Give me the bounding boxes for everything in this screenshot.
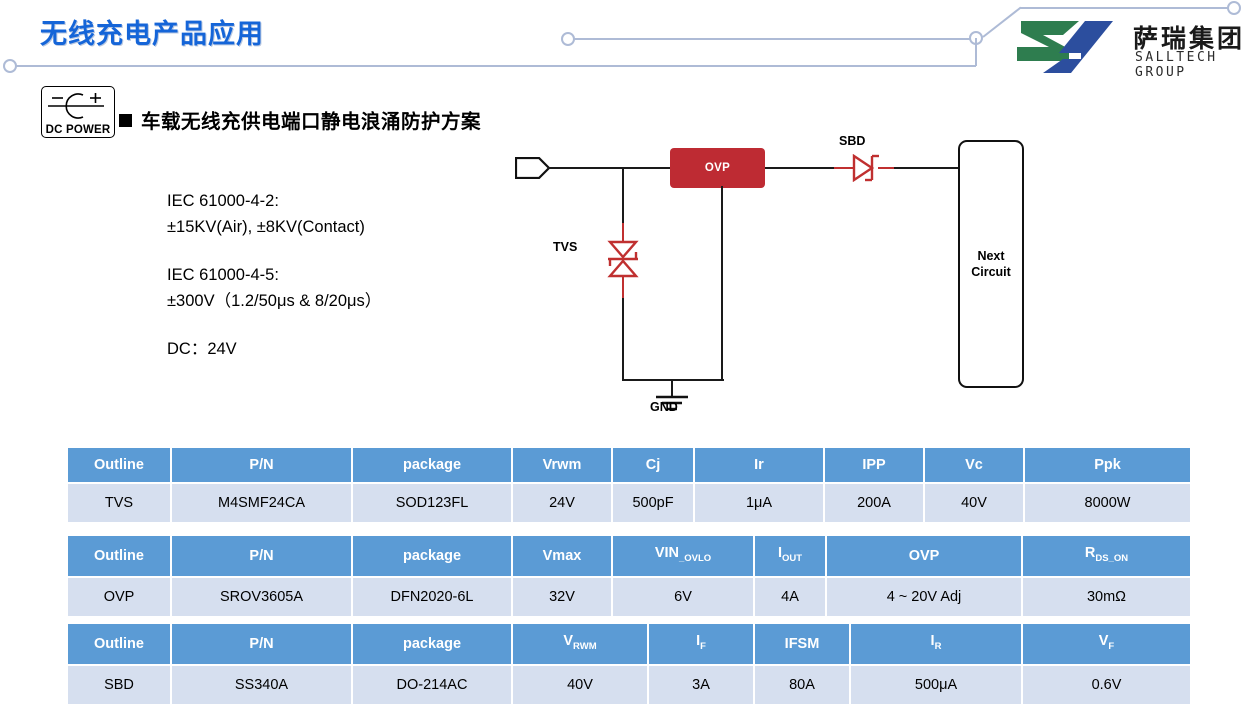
wire-node-to-tvs	[622, 167, 624, 224]
deco-circle-right	[1227, 1, 1241, 15]
deco-circle-left	[3, 59, 17, 73]
page-title: 无线充电产品应用	[40, 12, 264, 51]
wire-input	[548, 167, 672, 169]
td-outline: OVP	[68, 576, 172, 616]
td-ovp: 4 ~ 20V Adj	[827, 576, 1023, 616]
th-pn: P/N	[172, 448, 353, 482]
td-iout: 4A	[755, 576, 827, 616]
td-package: SOD123FL	[353, 482, 513, 522]
td-vc: 40V	[925, 482, 1025, 522]
th-vmax: Vmax	[513, 536, 613, 576]
th-vrwm: Vrwm	[513, 448, 613, 482]
deco-line-lower	[16, 65, 976, 67]
th-vf: VF	[1023, 624, 1190, 664]
table-header-row: Outline P/N package Vrwm Cj Ir IPP Vc Pp…	[68, 448, 1190, 482]
th-pn: P/N	[172, 536, 353, 576]
th-ovp: OVP	[827, 536, 1023, 576]
input-terminal-icon	[515, 157, 551, 179]
deco-circle-middle	[561, 32, 575, 46]
td-ir: 1μA	[695, 482, 825, 522]
section-heading: 车载无线充供电端口静电浪涌防护方案	[141, 105, 481, 134]
dc-power-symbol-icon	[42, 89, 112, 119]
th-outline: Outline	[68, 536, 172, 576]
logo-mark-icon	[1015, 19, 1130, 75]
tvs-lead-lower	[622, 276, 624, 299]
table-tvs: Outline P/N package Vrwm Cj Ir IPP Vc Pp…	[68, 448, 1190, 522]
table-header-row: Outline P/N package VRWM IF IFSM IR VF	[68, 624, 1190, 664]
td-vin-ovlo: 6V	[613, 576, 755, 616]
td-vrwm: 24V	[513, 482, 613, 522]
wire-tvs-to-rail	[622, 298, 624, 381]
th-package: package	[353, 536, 513, 576]
td-pn: SROV3605A	[172, 576, 353, 616]
wire-ovp-to-rail	[721, 186, 723, 381]
td-vf: 0.6V	[1023, 664, 1190, 704]
th-pn: P/N	[172, 624, 353, 664]
td-ipp: 200A	[825, 482, 925, 522]
spec-line-5: DC：24V	[167, 336, 381, 362]
th-ir: IR	[851, 624, 1023, 664]
td-pn: SS340A	[172, 664, 353, 704]
wire-sbd-to-next	[894, 167, 962, 169]
th-iout: IOUT	[755, 536, 827, 576]
td-ifsm: 80A	[755, 664, 851, 704]
th-package: package	[353, 624, 513, 664]
gnd-label: GND	[650, 400, 678, 414]
th-ppk: Ppk	[1025, 448, 1190, 482]
td-outline: TVS	[68, 482, 172, 522]
th-package: package	[353, 448, 513, 482]
th-outline: Outline	[68, 624, 172, 664]
th-if: IF	[649, 624, 755, 664]
th-outline: Outline	[68, 448, 172, 482]
spec-line-3: IEC 61000-4-5:	[167, 262, 381, 288]
deco-line-upper	[1020, 7, 1228, 9]
td-cj: 500pF	[613, 482, 695, 522]
next-circuit-block: Next Circuit	[958, 140, 1024, 388]
next-circuit-line-2: Circuit	[971, 264, 1011, 280]
td-rds-on: 30mΩ	[1023, 576, 1190, 616]
sbd-label: SBD	[839, 134, 865, 148]
td-ppk: 8000W	[1025, 482, 1190, 522]
td-if: 3A	[649, 664, 755, 704]
bullet-square-icon	[119, 114, 132, 127]
spec-line-1: IEC 61000-4-2:	[167, 188, 381, 214]
dc-power-icon: DC POWER	[41, 86, 115, 138]
spec-text-block: IEC 61000-4-2: ±15KV(Air), ±8KV(Contact)…	[167, 188, 381, 362]
deco-line-middle	[574, 38, 977, 40]
table-row: SBD SS340A DO-214AC 40V 3A 80A 500μA 0.6…	[68, 664, 1190, 704]
th-ir: Ir	[695, 448, 825, 482]
th-vrwm: VRWM	[513, 624, 649, 664]
table-row: TVS M4SMF24CA SOD123FL 24V 500pF 1μA 200…	[68, 482, 1190, 522]
td-vrwm: 40V	[513, 664, 649, 704]
th-vc: Vc	[925, 448, 1025, 482]
wire-ovp-output	[765, 167, 835, 169]
ovp-block-label: OVP	[670, 148, 765, 188]
td-vmax: 32V	[513, 576, 613, 616]
circuit-diagram: TVS OVP GND SBD Next Circuit	[490, 128, 1050, 423]
table-sbd: Outline P/N package VRWM IF IFSM IR VF S…	[68, 624, 1190, 704]
next-circuit-label: Next Circuit	[960, 142, 1022, 386]
td-pn: M4SMF24CA	[172, 482, 353, 522]
deco-line-vertical	[975, 38, 977, 66]
ovp-block: OVP	[670, 148, 765, 188]
th-rds-on: RDS_ON	[1023, 536, 1190, 576]
table-ovp: Outline P/N package Vmax VIN_OVLO IOUT O…	[68, 536, 1190, 616]
logo-en-text: SALLTECH GROUP	[1135, 50, 1245, 80]
slide-header: 无线充电产品应用 萨瑞集团 SALLTECH GROUP	[0, 0, 1257, 92]
tvs-diode-icon	[602, 240, 644, 278]
td-ir: 500μA	[851, 664, 1023, 704]
table-row: OVP SROV3605A DFN2020-6L 32V 6V 4A 4 ~ 2…	[68, 576, 1190, 616]
spec-line-4: ±300V（1.2/50μs & 8/20μs）	[167, 288, 381, 314]
td-package: DFN2020-6L	[353, 576, 513, 616]
th-ipp: IPP	[825, 448, 925, 482]
td-outline: SBD	[68, 664, 172, 704]
th-cj: Cj	[613, 448, 695, 482]
logo: 萨瑞集团 SALLTECH GROUP	[1015, 17, 1245, 79]
tvs-label: TVS	[553, 240, 577, 254]
th-ifsm: IFSM	[755, 624, 851, 664]
next-circuit-line-1: Next	[977, 248, 1004, 264]
td-package: DO-214AC	[353, 664, 513, 704]
spec-line-2: ±15KV(Air), ±8KV(Contact)	[167, 214, 381, 240]
table-header-row: Outline P/N package Vmax VIN_OVLO IOUT O…	[68, 536, 1190, 576]
th-vin-ovlo: VIN_OVLO	[613, 536, 755, 576]
dc-power-label: DC POWER	[42, 124, 114, 136]
